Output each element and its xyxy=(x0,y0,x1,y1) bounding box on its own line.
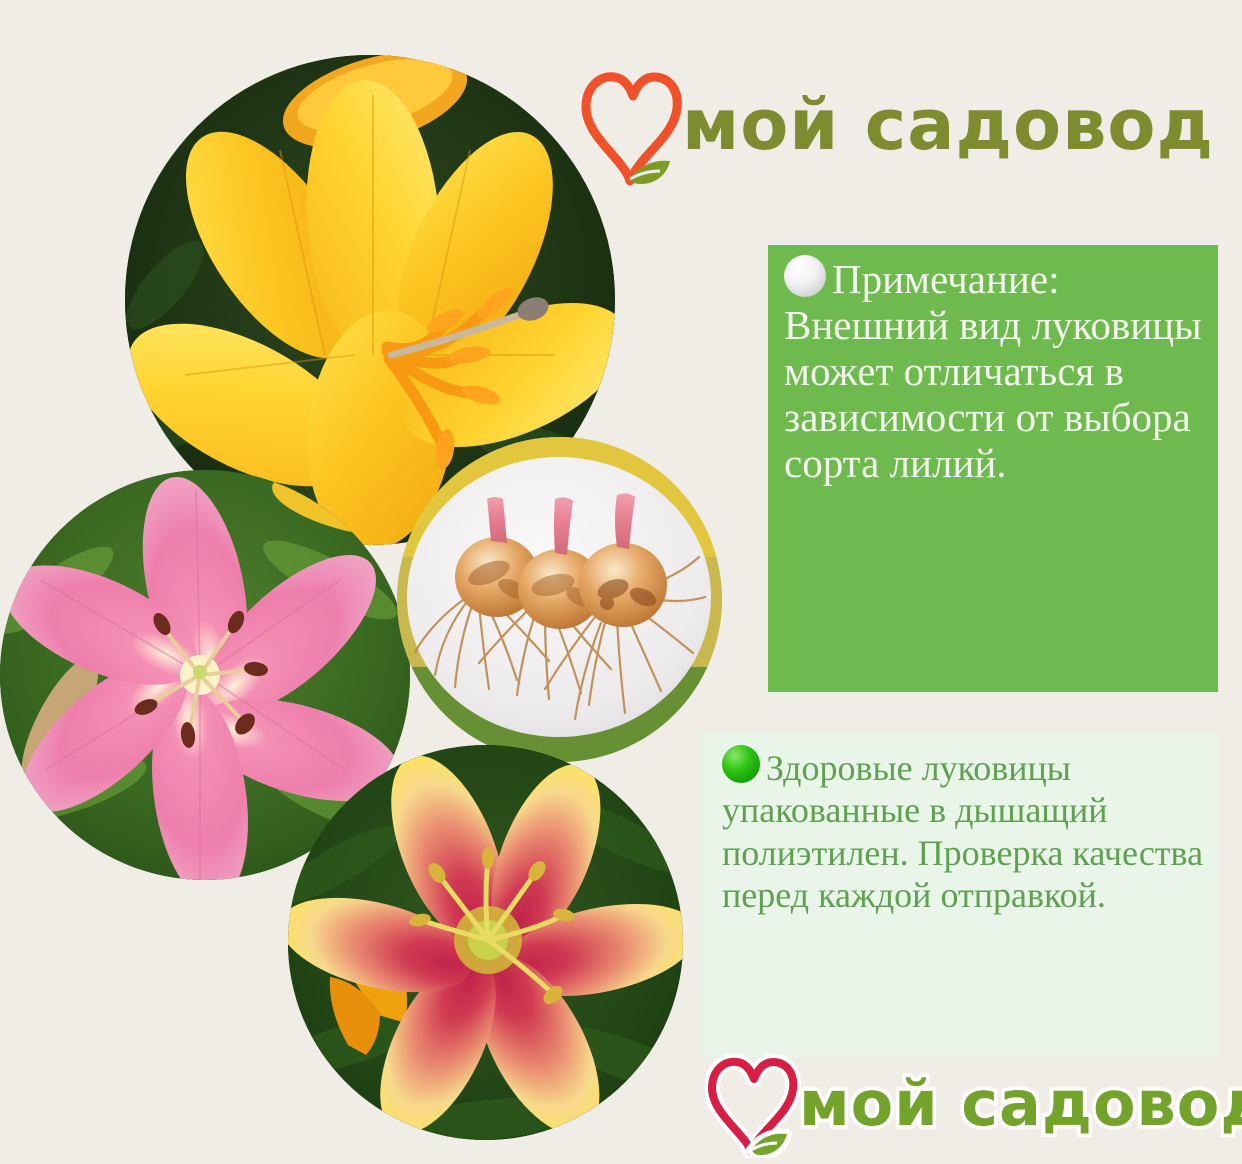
lily-bulbs-photo xyxy=(397,437,722,762)
white-sphere-bullet-icon xyxy=(784,255,826,297)
heart-leaf-svg xyxy=(578,63,686,187)
brand-wordmark-top: мой садовод xyxy=(682,90,1214,160)
poster-canvas: Примечание: Внешний вид луковицы может о… xyxy=(0,0,1242,1164)
note-quality-text: Здоровые луковицы упакованные в дышащий … xyxy=(722,745,1206,917)
note-attention-box: Примечание: Внешний вид луковицы может о… xyxy=(768,245,1218,692)
heart-with-leaf-icon xyxy=(705,1050,801,1158)
brand-wordmark-bottom: мой садовод xyxy=(799,1073,1242,1135)
note-attention-content: Примечание: Внешний вид луковицы может о… xyxy=(784,256,1202,486)
note-quality-content: Здоровые луковицы упакованные в дышащий … xyxy=(722,748,1203,915)
lily-bulbs-illustration xyxy=(397,437,722,762)
bicolor-lily-photo xyxy=(288,745,683,1140)
brand-logo-top: мой садовод xyxy=(578,55,1224,195)
note-attention-text: Примечание: Внешний вид луковицы может о… xyxy=(784,255,1204,487)
heart-leaf-svg xyxy=(705,1050,801,1158)
note-quality-box: Здоровые луковицы упакованные в дышащий … xyxy=(700,733,1218,1057)
green-sphere-bullet-icon xyxy=(722,745,760,783)
brand-logo-bottom: мой садовод xyxy=(705,1048,1235,1160)
heart-with-leaf-icon xyxy=(578,63,686,187)
bicolor-lily-illustration xyxy=(288,745,683,1140)
